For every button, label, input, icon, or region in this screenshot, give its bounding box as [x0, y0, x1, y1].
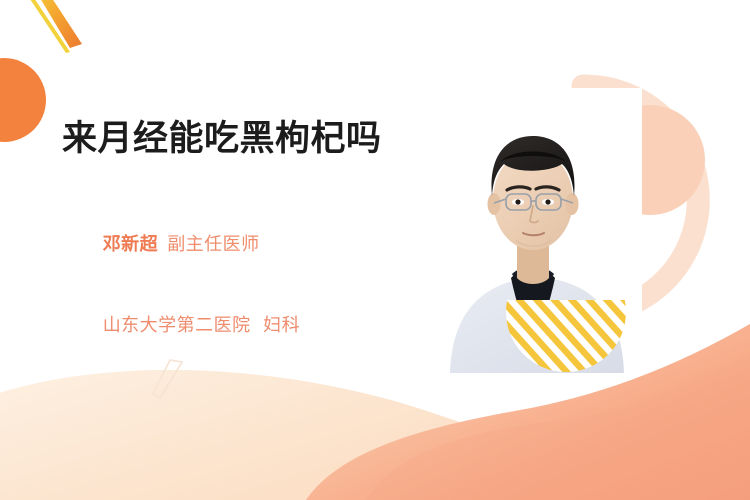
doctor-affiliation-line: 山东大学第二医院 妇科	[62, 285, 422, 366]
doctor-affiliation: 山东大学第二医院 妇科	[103, 315, 300, 336]
text-block: 来月经能吃黑枸杞吗 邓新超副主任医师 山东大学第二医院 妇科	[62, 118, 422, 366]
doctor-name-line: 邓新超副主任医师	[62, 204, 422, 285]
health-article-cover-card: 来月经能吃黑枸杞吗 邓新超副主任医师 山东大学第二医院 妇科	[0, 0, 750, 500]
page-title: 来月经能吃黑枸杞吗	[62, 118, 422, 161]
doctor-professional-title: 副主任医师	[167, 234, 260, 255]
doctor-portrait	[432, 88, 642, 373]
doctor-name: 邓新超	[103, 234, 159, 255]
orange-circle	[0, 58, 46, 142]
doctor-credentials: 邓新超副主任医师 山东大学第二医院 妇科	[62, 204, 422, 366]
